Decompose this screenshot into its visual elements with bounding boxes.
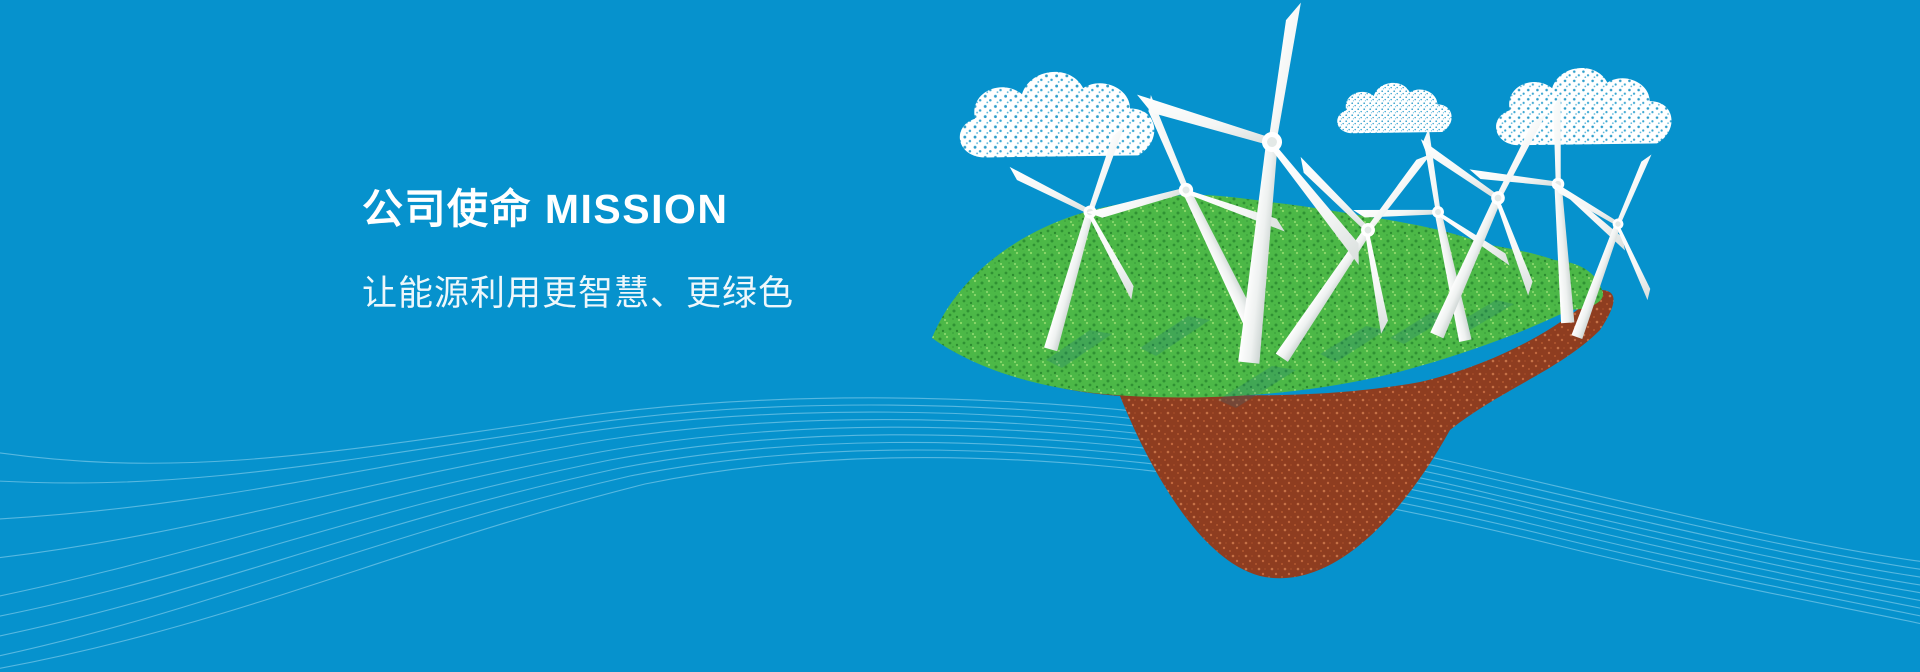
island-soil (932, 290, 1614, 578)
page-title: 公司使命 MISSION (362, 185, 1002, 234)
island-group (932, 195, 1614, 578)
turbine-6 (1351, 72, 1599, 363)
turbine-8 (1506, 126, 1695, 355)
island-grass (932, 198, 1603, 338)
page-subtitle: 让能源利用更智慧、更绿色 (362, 272, 1002, 316)
turbine-7 (1465, 91, 1630, 329)
turbine-2 (1053, 68, 1319, 375)
mission-text-block: 公司使命 MISSION 让能源利用更智慧、更绿色 (362, 185, 1002, 316)
turbine-5 (1340, 118, 1523, 358)
cloud-left (960, 72, 1155, 158)
mission-banner: 公司使命 MISSION 让能源利用更智慧、更绿色 (0, 0, 1920, 672)
decorative-wave-lines (0, 0, 1920, 672)
island-grass-plateau (932, 195, 1602, 398)
cloud-right (1496, 68, 1671, 145)
turbine-3 (1110, 0, 1385, 373)
turbine-shadows (1046, 300, 1514, 408)
cloud-middle (1337, 83, 1451, 133)
turbine-4 (1202, 94, 1481, 396)
floating-island-illustration (0, 0, 1920, 672)
